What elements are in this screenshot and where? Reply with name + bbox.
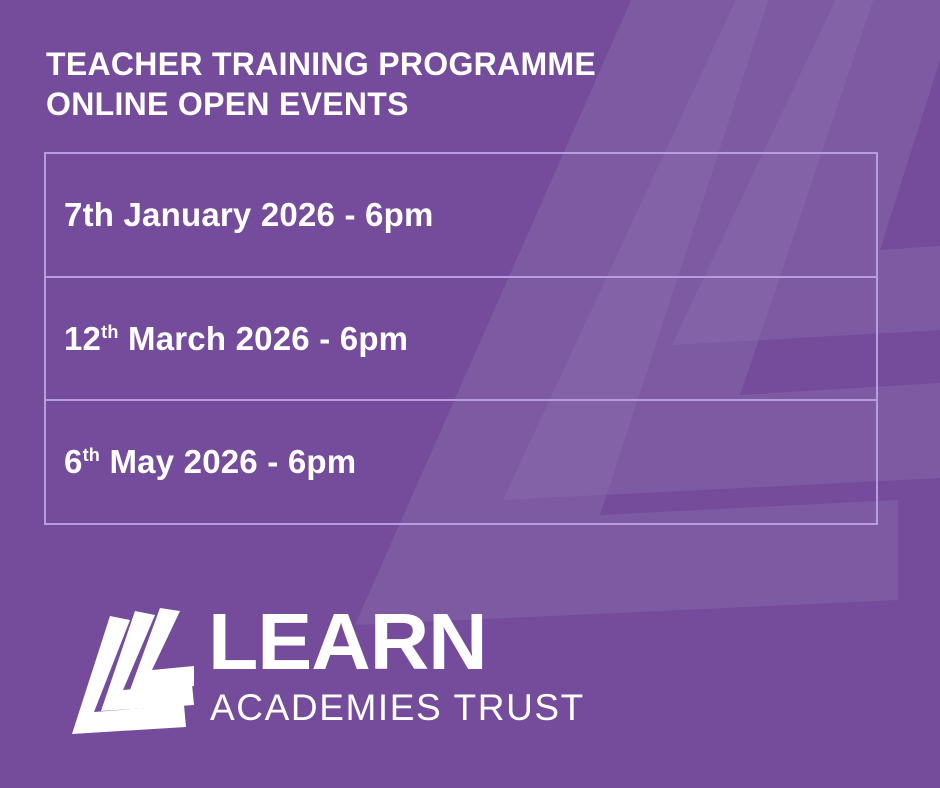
table-row: 12th March 2026 - 6pm bbox=[46, 278, 876, 402]
event-month: January bbox=[124, 196, 252, 233]
learn-three-l-mark-icon bbox=[72, 608, 194, 734]
event-separator: - bbox=[267, 443, 278, 480]
event-date-label: 7th January 2026 - 6pm bbox=[46, 196, 433, 234]
page-title: TEACHER TRAINING PROGRAMME ONLINE OPEN E… bbox=[46, 44, 596, 125]
event-ordinal: th bbox=[101, 322, 119, 342]
event-time: 6pm bbox=[340, 320, 408, 357]
event-month: May bbox=[109, 443, 174, 480]
logo-subtitle: ACADEMIES TRUST bbox=[210, 687, 585, 729]
event-day: 12 bbox=[64, 320, 101, 357]
event-day: 7 bbox=[64, 196, 83, 233]
event-date-label: 6th May 2026 - 6pm bbox=[46, 443, 356, 481]
open-events-table: 7th January 2026 - 6pm 12th March 2026 -… bbox=[44, 152, 878, 525]
event-ordinal: th bbox=[83, 445, 101, 465]
logo-wordmark: LEARN bbox=[208, 608, 596, 675]
table-row: 6th May 2026 - 6pm bbox=[46, 401, 876, 523]
learn-academies-trust-logo: LEARN ACADEMIES TRUST bbox=[72, 608, 585, 734]
event-day: 6 bbox=[64, 443, 83, 480]
event-separator: - bbox=[319, 320, 330, 357]
event-time: 6pm bbox=[288, 443, 356, 480]
event-year: 2026 bbox=[236, 320, 310, 357]
event-month: March bbox=[128, 320, 226, 357]
event-date-label: 12th March 2026 - 6pm bbox=[46, 320, 408, 358]
event-year: 2026 bbox=[261, 196, 335, 233]
table-row: 7th January 2026 - 6pm bbox=[46, 154, 876, 278]
event-ordinal: th bbox=[83, 196, 115, 233]
event-year: 2026 bbox=[184, 443, 258, 480]
event-time: 6pm bbox=[365, 196, 433, 233]
event-separator: - bbox=[344, 196, 355, 233]
poster-canvas: TEACHER TRAINING PROGRAMME ONLINE OPEN E… bbox=[0, 0, 940, 788]
